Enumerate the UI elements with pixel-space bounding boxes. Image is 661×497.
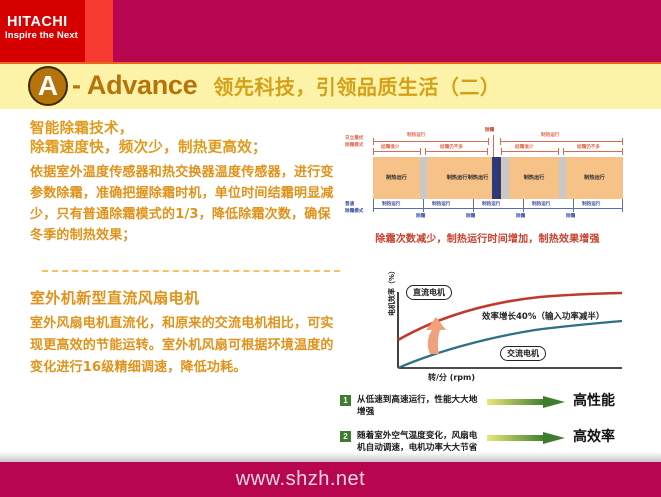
bullet-item-2: 2 随着室外空气温度变化，风扇电机自动调速，电机功率大大节省 高效率	[340, 430, 640, 454]
defrost-marker-leader	[493, 135, 494, 157]
band-cell-3: 制热运行	[464, 157, 492, 199]
sub-span-label-2: 结霜仍不多	[440, 145, 463, 151]
section-1-text: 智能除霜技术， 除霜速度快，频次少，制热更高效； 依据室外温度传感器和热交换器温…	[30, 120, 340, 246]
section-divider	[42, 270, 340, 272]
bullet-outcome-1: 高性能	[573, 394, 615, 408]
top-span-tick-a	[373, 138, 374, 145]
section-2-heading: 室外机新型直流风扇电机	[30, 288, 342, 308]
sub-tick-2a	[425, 148, 426, 155]
sub-span-label-4: 结霜仍不多	[577, 145, 600, 151]
bottom-defrost-label-2: 除霜	[466, 214, 475, 220]
sub-span-line-2	[425, 151, 488, 152]
footer-sheen	[0, 452, 661, 462]
sub-span-line-3	[501, 151, 559, 152]
bottom-tick-2	[473, 199, 474, 212]
defrost-marker-label: 除霜	[485, 128, 494, 134]
bullet-outcome-2: 高效率	[573, 430, 615, 444]
sub-span-line-4	[563, 151, 623, 152]
gradient-arrow-icon-2	[487, 432, 565, 444]
bullet-text-2: 随着室外空气温度变化，风扇电机自动调速，电机功率大大节省	[357, 430, 485, 454]
band-cell-1: 制热运行	[373, 157, 420, 199]
defrost-comparison-diagram: 日立最优 除霜模式 制热运行 制热运行 除霜 结霜很少 结霜仍不多 结霜很少 结…	[345, 130, 625, 222]
band-cell-4: 制热运行	[509, 157, 559, 199]
defrost-top-mode-label-1: 日立最优	[345, 136, 363, 142]
bottom-span-label-2: 制热运行	[432, 202, 450, 208]
bullet-text-1: 从低速到高速运行，性能大大地增强	[357, 394, 485, 418]
bullet-number-2: 2	[340, 431, 351, 442]
defrost-diagram-caption: 除霜次数减少，制热运行时间增加，制热效果增强	[345, 230, 630, 245]
bottom-defrost-label-1: 除霜	[416, 214, 425, 220]
band-gap-2	[502, 157, 509, 199]
motor-efficiency-chart: 电机效率（%） 转/分 (rpm) 直流电机 交流电机 效率增长40%（输入功率…	[360, 288, 628, 386]
top-span-tick-b	[488, 138, 489, 145]
chart-canvas	[360, 288, 628, 386]
bottom-span-label-4: 制热运行	[532, 202, 550, 208]
page-title-english: - Advance	[72, 70, 197, 101]
bottom-tick-0	[373, 199, 374, 212]
band-cell-5: 制热运行	[566, 157, 623, 199]
top-span-label-2: 制热运行	[541, 133, 559, 139]
top-span-tick-c	[500, 138, 501, 145]
bottom-span-label-3: 制热运行	[482, 202, 500, 208]
sub-tick-1a	[373, 148, 374, 155]
bottom-span-label-5: 制热运行	[582, 202, 600, 208]
legend-dc-motor: 直流电机	[406, 285, 452, 300]
defrost-top-mode-label-2: 除霜模式	[345, 143, 363, 149]
gradient-arrow-icon-1	[487, 396, 565, 408]
top-span-label-1: 制热运行	[407, 133, 425, 139]
sub-tick-2b	[487, 148, 488, 155]
section-2-body: 室外风扇电机直流化，和原来的交流电机相比，可实现更高效的节能运转。室外机风扇可根…	[30, 313, 342, 379]
efficiency-gain-arrow-icon	[426, 317, 446, 354]
advance-badge-icon: A	[28, 66, 68, 106]
bullet-number-1: 1	[340, 395, 351, 406]
hitachi-wordmark: HITACHI	[7, 15, 68, 30]
top-span-line-right	[500, 141, 623, 142]
bottom-tick-1	[423, 199, 424, 212]
top-span-tick-d	[622, 138, 623, 145]
defrost-bottom-mode-label-1: 普通	[345, 202, 354, 208]
logo-accent-strip	[85, 0, 113, 62]
bottom-defrost-label-4: 除霜	[566, 214, 575, 220]
chart-annotation: 效率增长40%（输入功率减半）	[482, 310, 604, 322]
sub-tick-3a	[501, 148, 502, 155]
sub-span-label-1: 结霜很少	[381, 145, 399, 151]
band-gap-3	[559, 157, 566, 199]
section-1-body: 依据室外温度传感器和热交换器温度传感器，进行变参数除霜，准确把握除霜时机，单位时…	[30, 162, 340, 246]
chart-y-axis-label: 电机效率（%）	[387, 267, 397, 316]
sub-tick-3b	[558, 148, 559, 155]
bottom-tick-3	[523, 199, 524, 212]
defrost-bar	[492, 157, 501, 199]
legend-ac-motor: 交流电机	[500, 346, 546, 361]
sub-tick-4b	[622, 148, 623, 155]
bullet-item-1: 1 从低速到高速运行，性能大大地增强 高性能	[340, 394, 640, 418]
chart-x-axis-label: 转/分 (rpm)	[428, 372, 475, 383]
sub-tick-4a	[563, 148, 564, 155]
bottom-tick-4	[573, 199, 574, 212]
sub-span-line-1	[373, 151, 421, 152]
bottom-axis-line	[373, 208, 623, 209]
bottom-span-label-1: 制热运行	[382, 202, 400, 208]
slide-root: HITACHI Inspire the Next A - Advance 领先科…	[0, 0, 661, 497]
section-2-text: 室外机新型直流风扇电机 室外风扇电机直流化，和原来的交流电机相比，可实现更高效的…	[30, 288, 342, 379]
section-1-heading-line2: 除霜速度快，频次少，制热更高效；	[30, 139, 340, 158]
defrost-bottom-mode-label-2: 除霜模式	[345, 209, 363, 215]
bottom-defrost-label-3: 除霜	[516, 214, 525, 220]
band-gap-1	[420, 157, 427, 199]
page-title-chinese: 领先科技，引领品质生活（二）	[213, 71, 500, 100]
section-1-heading-line1: 智能除霜技术，	[30, 120, 340, 139]
hitachi-tagline: Inspire the Next	[5, 31, 78, 41]
sub-tick-1b	[420, 148, 421, 155]
top-span-line-left	[373, 141, 489, 142]
sub-span-label-3: 结霜很少	[515, 145, 533, 151]
title-row: A - Advance 领先科技，引领品质生活（二）	[28, 64, 500, 107]
footer-url: www.shzh.net	[0, 468, 661, 491]
bottom-tick-5	[622, 199, 623, 212]
